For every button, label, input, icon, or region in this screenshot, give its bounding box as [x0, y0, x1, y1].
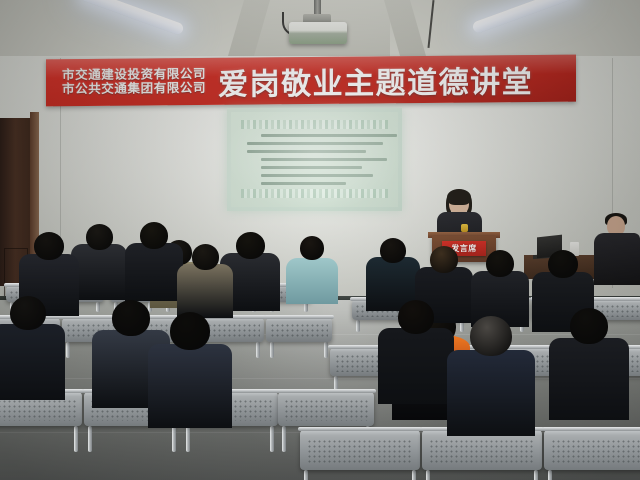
chair-back — [300, 430, 420, 470]
slide-line — [261, 134, 397, 137]
attendee-body — [71, 244, 127, 300]
attendee-head — [170, 312, 210, 350]
chair-leg — [304, 470, 308, 480]
attendee-head — [34, 232, 64, 260]
chair-rail — [590, 297, 640, 301]
chair-back — [544, 430, 640, 470]
chair-leg — [66, 342, 70, 358]
attendee-head — [380, 238, 406, 263]
event-banner: 市交通建设投资有限公司 市公共交通集团有限公司 爱岗敬业主题道德讲堂 — [46, 55, 576, 107]
attendee-head — [470, 316, 512, 356]
attendee-head — [398, 300, 434, 334]
slide-line — [247, 142, 383, 145]
attendee-head — [548, 250, 578, 278]
attendee-head — [112, 300, 150, 336]
chair-leg — [74, 426, 78, 452]
attendee-body — [177, 264, 233, 318]
speaker-badge — [461, 224, 468, 232]
chair-back — [278, 392, 374, 426]
attendee-head — [486, 250, 514, 277]
attendee-body — [0, 324, 65, 400]
banner-organization: 市交通建设投资有限公司 市公共交通集团有限公司 — [62, 68, 206, 96]
slide-line — [261, 166, 362, 169]
banner-org-line-2: 市公共交通集团有限公司 — [62, 81, 206, 96]
chair-rail — [276, 389, 376, 393]
chair-leg — [548, 470, 552, 480]
speaker-hair — [447, 189, 471, 205]
chair-rail — [264, 315, 334, 319]
attendee-body — [378, 328, 454, 404]
projection-screen — [227, 108, 402, 211]
chair-leg — [534, 470, 538, 480]
chair-leg — [96, 302, 100, 312]
chair-leg — [356, 320, 360, 332]
chair-leg — [324, 342, 328, 358]
attendee-head — [192, 244, 219, 270]
chair-leg — [426, 470, 430, 480]
chair-back — [422, 430, 542, 470]
slide-line — [261, 182, 346, 185]
attendee-head — [236, 232, 265, 259]
banner-main-title: 爱岗敬业主题道德讲堂 — [218, 57, 533, 104]
chair-leg — [88, 426, 92, 452]
attendee-body — [148, 344, 232, 428]
chair-leg — [172, 426, 176, 452]
slide-line — [247, 150, 366, 153]
standing-person-body — [594, 233, 640, 285]
chair-rail — [542, 427, 640, 431]
attendee-head — [10, 296, 46, 330]
slide-border-top — [241, 120, 388, 129]
attendee-head — [300, 236, 324, 260]
slide-surface — [231, 112, 398, 207]
attendee-head — [140, 222, 168, 249]
attendee-head — [570, 308, 608, 344]
attendee-body — [549, 338, 629, 420]
slide-text-block — [247, 134, 384, 185]
chair-leg — [270, 342, 274, 358]
attendee-head — [430, 246, 458, 273]
chair-rail — [298, 427, 422, 431]
projector-icon — [289, 22, 347, 44]
lecture-hall-photo: 市交通建设投资有限公司 市公共交通集团有限公司 爱岗敬业主题道德讲堂 — [0, 0, 640, 480]
chair-leg — [270, 426, 274, 452]
attendee-body — [447, 350, 535, 436]
chair-leg — [256, 342, 260, 358]
slide-line — [261, 158, 387, 161]
slide-border-bottom — [241, 189, 388, 198]
chair-leg — [186, 426, 190, 452]
chair-leg — [412, 470, 416, 480]
attendee-head — [86, 224, 113, 250]
attendee-body — [286, 258, 338, 304]
chair-back — [266, 318, 332, 342]
slide-line — [261, 174, 373, 177]
chair-leg — [282, 426, 286, 452]
attendee-body — [125, 243, 183, 301]
